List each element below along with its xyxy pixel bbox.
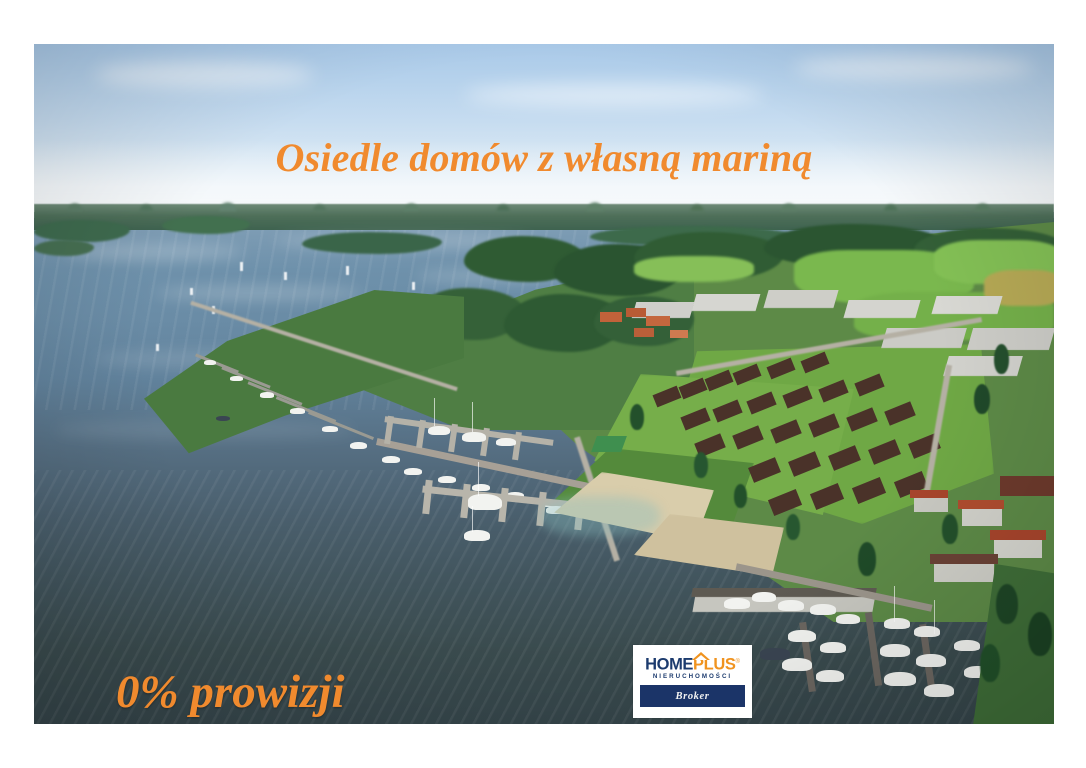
shallow-water <box>540 496 660 536</box>
moored-yacht <box>916 654 946 667</box>
boat-on-water <box>216 416 230 421</box>
moored-yacht <box>752 592 776 602</box>
village-roof <box>930 554 998 564</box>
conifer-tree <box>980 644 1000 682</box>
apartment-block <box>692 294 761 311</box>
marina-yacht <box>464 530 490 541</box>
logo-home-text: HOME <box>645 655 693 673</box>
apartment-block <box>843 300 920 318</box>
moored-yacht <box>788 630 816 642</box>
sailboat <box>346 266 349 275</box>
village-roof <box>958 500 1004 509</box>
house-red-roof <box>646 316 670 326</box>
village-roof <box>990 530 1046 540</box>
moored-yacht <box>810 604 836 615</box>
moored-yacht <box>880 644 910 657</box>
conifer-tree <box>974 384 990 414</box>
water-glint <box>154 286 364 300</box>
moored-yacht <box>836 614 860 624</box>
marina-yacht <box>496 438 516 446</box>
sailboat <box>412 282 415 290</box>
conifer-tree <box>786 514 800 540</box>
cloud-wisp <box>464 84 764 106</box>
moored-boat <box>260 392 274 398</box>
marina-yacht-large <box>468 494 502 510</box>
village-roof <box>1000 476 1054 496</box>
cloud-wisp <box>794 56 1034 80</box>
moored-yacht <box>884 618 910 629</box>
moored-yacht <box>816 670 844 682</box>
commission-text: 0% prowizji <box>116 665 345 719</box>
moored-boat <box>404 468 422 475</box>
logo-wordmark: HOMEPLUS® <box>640 652 745 672</box>
house-roof-inner-icon <box>695 655 707 660</box>
conifer-tree <box>694 452 708 478</box>
conifer-tree <box>994 344 1009 374</box>
field <box>634 256 754 282</box>
moored-boat <box>438 476 456 483</box>
cloud-wisp <box>94 62 314 88</box>
moored-boat <box>382 456 400 463</box>
homeplus-logo[interactable]: HOMEPLUS® NIERUCHOMOŚCI Broker <box>633 645 752 718</box>
moored-boat <box>290 408 305 414</box>
moored-yacht <box>914 626 940 637</box>
conifer-tree <box>734 484 747 508</box>
moored-boat <box>204 360 216 365</box>
headline-text: Osiedle domów z własną mariną <box>34 134 1054 181</box>
sailboat <box>284 272 287 280</box>
moored-boat <box>350 442 367 449</box>
distant-island <box>162 216 250 234</box>
yacht-mast <box>472 402 473 432</box>
marina-yacht <box>428 426 450 435</box>
moored-boat <box>230 376 243 381</box>
registered-trademark-icon: ® <box>735 659 739 665</box>
conifer-tree <box>942 514 958 544</box>
village-roof <box>910 490 948 498</box>
moored-yacht <box>884 672 916 686</box>
poster-page: Osiedle domów z własną mariną 0% prowizj… <box>0 0 1086 768</box>
sailboat <box>240 262 243 271</box>
marina-yacht <box>462 432 486 442</box>
moored-boat <box>472 484 490 491</box>
apartment-block <box>931 296 1002 314</box>
house-red-roof <box>670 330 688 338</box>
conifer-tree <box>630 404 644 430</box>
moored-boat-dark <box>760 648 790 660</box>
moored-yacht <box>782 658 812 671</box>
distant-island <box>34 220 130 242</box>
yacht-mast <box>478 462 479 496</box>
yacht-mast <box>934 600 935 634</box>
moored-yacht <box>924 684 954 697</box>
conifer-tree <box>858 542 876 576</box>
house-red-roof <box>600 312 622 322</box>
logo-tagline: NIERUCHOMOŚCI <box>640 673 745 680</box>
sailboat <box>156 344 159 351</box>
moored-yacht <box>724 598 750 609</box>
yacht-mast <box>894 586 895 622</box>
moored-boat <box>322 426 338 432</box>
sports-court <box>591 436 627 452</box>
apartment-block <box>967 328 1054 350</box>
conifer-tree <box>996 584 1018 624</box>
apartment-block <box>943 356 1023 376</box>
yacht-mast <box>472 506 473 532</box>
yacht-mast <box>434 398 435 426</box>
aerial-photo: Osiedle domów z własną mariną 0% prowizj… <box>34 44 1054 724</box>
logo-broker-text: Broker <box>676 691 710 702</box>
house-red-roof <box>626 308 646 317</box>
village-house <box>962 506 1002 526</box>
moored-yacht <box>954 640 980 651</box>
house-red-roof <box>634 328 654 337</box>
distant-island <box>34 240 94 256</box>
logo-badge-bar: Broker <box>640 685 745 707</box>
distant-island <box>302 232 442 254</box>
conifer-tree <box>1028 612 1052 656</box>
moored-yacht <box>820 642 846 653</box>
sailboat <box>190 288 193 295</box>
moored-yacht <box>778 600 804 611</box>
apartment-block <box>763 290 838 308</box>
